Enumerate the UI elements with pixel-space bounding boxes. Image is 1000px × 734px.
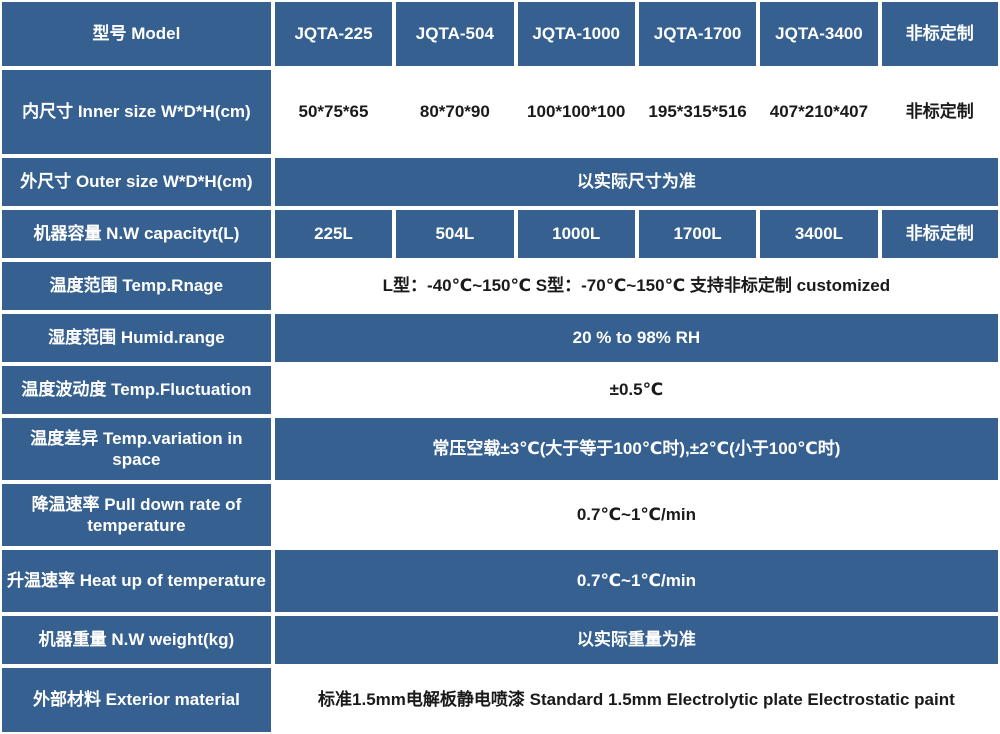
row-label-outer-size: 外尺寸 Outer size W*D*H(cm)	[0, 156, 273, 208]
cell-pull-down-rate-value: 0.7℃~1℃/min	[273, 482, 1000, 548]
row-label-temp-range: 温度范围 Temp.Rnage	[0, 260, 273, 312]
cell-exterior-material-value: 标准1.5mm电解板静电喷漆 Standard 1.5mm Electrolyt…	[273, 666, 1000, 734]
cell-inner-size-custom: 非标定制	[880, 68, 1000, 156]
row-label-humidity-range: 湿度范围 Humid.range	[0, 312, 273, 364]
cell-temp-variation-value: 常压空载±3℃(大于等于100℃时),±2℃(小于100℃时)	[273, 416, 1000, 482]
cell-inner-size-3400: 407*210*407	[758, 68, 879, 156]
row-label-exterior-material: 外部材料 Exterior material	[0, 666, 273, 734]
table-row-temp-variation: 温度差异 Temp.variation in space 常压空载±3℃(大于等…	[0, 416, 1000, 482]
table-row-exterior-material: 外部材料 Exterior material 标准1.5mm电解板静电喷漆 St…	[0, 666, 1000, 734]
cell-temp-range-value: L型：-40℃~150℃ S型：-70℃~150℃ 支持非标定制 customi…	[273, 260, 1000, 312]
header-cell-jqta-3400: JQTA-3400	[758, 0, 879, 68]
cell-capacity-504: 504L	[394, 208, 515, 260]
cell-inner-size-504: 80*70*90	[394, 68, 515, 156]
header-cell-jqta-1000: JQTA-1000	[516, 0, 637, 68]
cell-capacity-custom: 非标定制	[880, 208, 1000, 260]
row-label-heat-up-rate: 升温速率 Heat up of temperature	[0, 548, 273, 614]
row-label-temp-variation: 温度差异 Temp.variation in space	[0, 416, 273, 482]
table-row-capacity: 机器容量 N.W capacityt(L) 225L 504L 1000L 17…	[0, 208, 1000, 260]
table-row-heat-up-rate: 升温速率 Heat up of temperature 0.7℃~1℃/min	[0, 548, 1000, 614]
cell-inner-size-1700: 195*315*516	[637, 68, 758, 156]
table-row-temp-range: 温度范围 Temp.Rnage L型：-40℃~150℃ S型：-70℃~150…	[0, 260, 1000, 312]
table-header-row: 型号 Model JQTA-225 JQTA-504 JQTA-1000 JQT…	[0, 0, 1000, 68]
table-row-humidity-range: 湿度范围 Humid.range 20 % to 98% RH	[0, 312, 1000, 364]
cell-humidity-range-value: 20 % to 98% RH	[273, 312, 1000, 364]
cell-capacity-225: 225L	[273, 208, 394, 260]
row-label-inner-size: 内尺寸 Inner size W*D*H(cm)	[0, 68, 273, 156]
table-row-weight: 机器重量 N.W weight(kg) 以实际重量为准	[0, 614, 1000, 666]
cell-capacity-1000: 1000L	[516, 208, 637, 260]
row-label-weight: 机器重量 N.W weight(kg)	[0, 614, 273, 666]
header-cell-jqta-504: JQTA-504	[394, 0, 515, 68]
row-label-capacity: 机器容量 N.W capacityt(L)	[0, 208, 273, 260]
cell-capacity-1700: 1700L	[637, 208, 758, 260]
cell-heat-up-rate-value: 0.7℃~1℃/min	[273, 548, 1000, 614]
cell-temp-fluctuation-value: ±0.5℃	[273, 364, 1000, 416]
header-cell-jqta-1700: JQTA-1700	[637, 0, 758, 68]
cell-outer-size-value: 以实际尺寸为准	[273, 156, 1000, 208]
cell-capacity-3400: 3400L	[758, 208, 879, 260]
table-row-pull-down-rate: 降温速率 Pull down rate of temperature 0.7℃~…	[0, 482, 1000, 548]
cell-weight-value: 以实际重量为准	[273, 614, 1000, 666]
header-cell-jqta-225: JQTA-225	[273, 0, 394, 68]
table-row-temp-fluctuation: 温度波动度 Temp.Fluctuation ±0.5℃	[0, 364, 1000, 416]
product-specification-table: 型号 Model JQTA-225 JQTA-504 JQTA-1000 JQT…	[0, 0, 1000, 734]
row-label-temp-fluctuation: 温度波动度 Temp.Fluctuation	[0, 364, 273, 416]
cell-inner-size-225: 50*75*65	[273, 68, 394, 156]
header-cell-model: 型号 Model	[0, 0, 273, 68]
header-cell-custom: 非标定制	[880, 0, 1000, 68]
table-row-inner-size: 内尺寸 Inner size W*D*H(cm) 50*75*65 80*70*…	[0, 68, 1000, 156]
row-label-pull-down-rate: 降温速率 Pull down rate of temperature	[0, 482, 273, 548]
cell-inner-size-1000: 100*100*100	[516, 68, 637, 156]
table-row-outer-size: 外尺寸 Outer size W*D*H(cm) 以实际尺寸为准	[0, 156, 1000, 208]
